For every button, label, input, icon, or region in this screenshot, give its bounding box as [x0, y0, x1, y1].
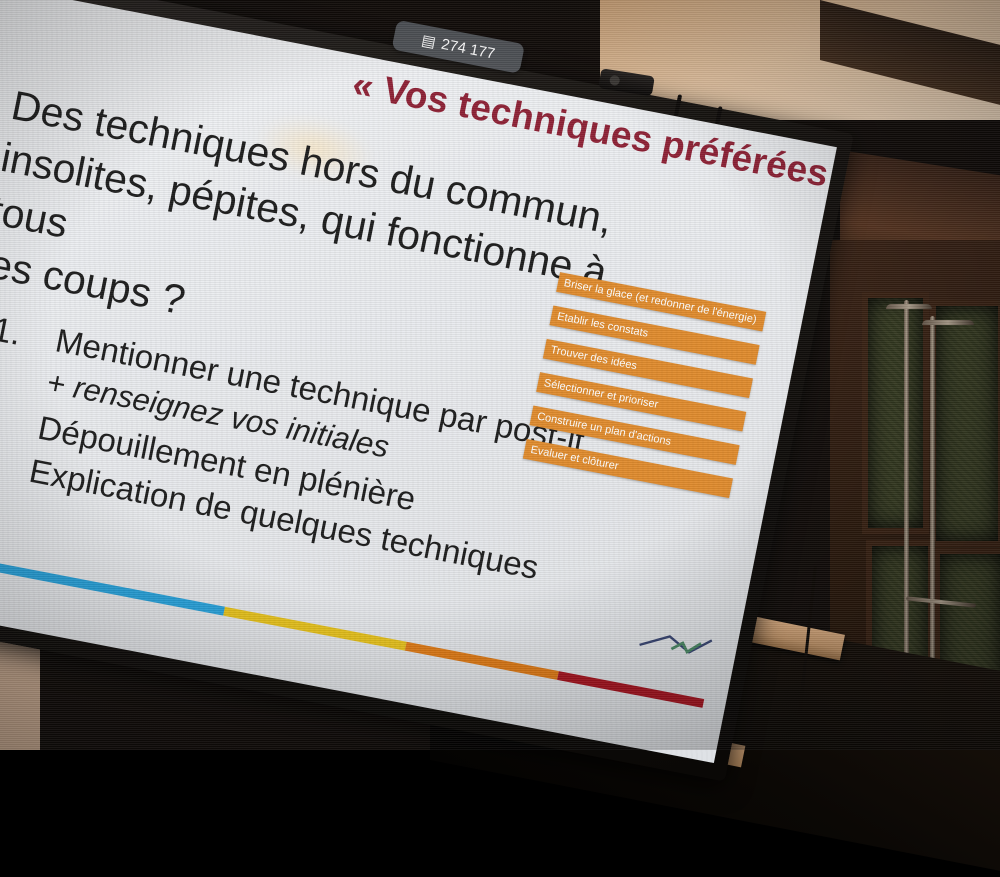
wall-display[interactable]: ▤ 274 177 « Vos techniques préférées » ?…	[0, 0, 854, 821]
stripe-segment-yellow	[223, 607, 406, 651]
list-number: 3.	[0, 440, 16, 488]
stripe-segment-darkred	[557, 671, 704, 708]
list-number: 2.	[0, 396, 25, 444]
badge-label: 274 177	[440, 35, 497, 62]
list-number: 1.	[0, 309, 42, 357]
process-bar-list: Briser la glace (et redonner de l'énergi…	[520, 272, 766, 512]
stripe-segment-blue	[0, 559, 225, 615]
badge-icon: ▤	[420, 31, 437, 51]
coat-rack	[886, 300, 976, 680]
stripe-segment-orange	[404, 642, 558, 680]
company-logo	[636, 623, 715, 668]
